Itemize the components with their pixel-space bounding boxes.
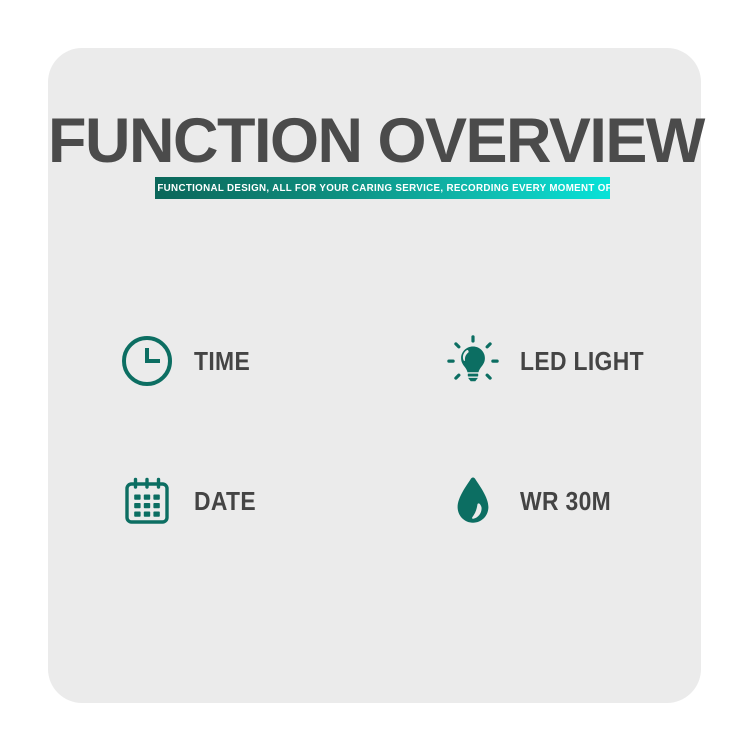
subtitle-banner: EACH FUNCTIONAL DESIGN, ALL FOR YOUR CAR…	[155, 177, 610, 199]
feature-label-time: TIME	[194, 348, 250, 374]
feature-label-date: DATE	[194, 488, 256, 514]
calendar-icon	[118, 472, 176, 530]
poster-canvas: FUNCTION OVERVIEW EACH FUNCTIONAL DESIGN…	[0, 0, 750, 750]
feature-item-water-resistance[interactable]: WR 30M	[374, 431, 700, 571]
feature-item-led-light[interactable]: LED LIGHT	[374, 291, 700, 431]
function-overview-card: FUNCTION OVERVIEW EACH FUNCTIONAL DESIGN…	[48, 48, 701, 703]
feature-item-date[interactable]: DATE	[48, 431, 374, 571]
page-title: FUNCTION OVERVIEW	[48, 108, 701, 174]
feature-label-led-light: LED LIGHT	[520, 348, 644, 374]
feature-grid: TIME	[48, 291, 701, 571]
subtitle-text: EACH FUNCTIONAL DESIGN, ALL FOR YOUR CAR…	[155, 183, 610, 194]
feature-label-water-resistance: WR 30M	[520, 488, 611, 514]
water-drop-icon	[444, 472, 502, 530]
feature-item-time[interactable]: TIME	[48, 291, 374, 431]
lightbulb-icon	[444, 332, 502, 390]
clock-icon	[118, 332, 176, 390]
